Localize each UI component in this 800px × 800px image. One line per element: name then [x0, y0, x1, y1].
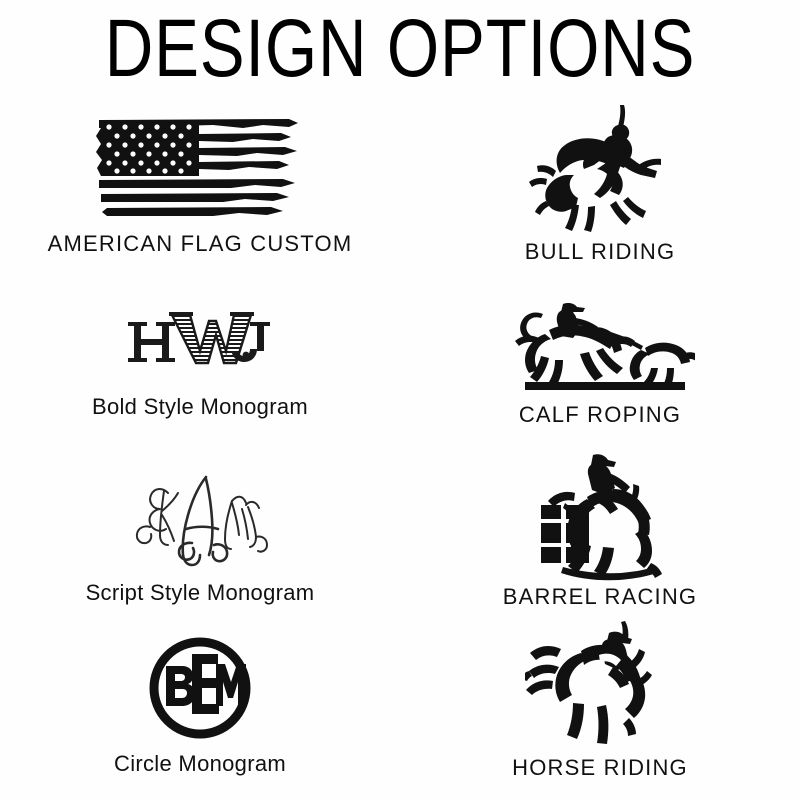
bold-monogram-icon — [120, 286, 280, 390]
design-option-label: Bold Style Monogram — [92, 394, 308, 420]
design-option-label: Circle Monogram — [114, 751, 286, 777]
design-option-script-style-monogram[interactable]: Script Style Monogram — [0, 458, 400, 629]
barrel-racing-icon — [515, 452, 685, 580]
script-monogram-icon — [120, 458, 280, 576]
design-option-label: BULL RIDING — [525, 239, 676, 265]
design-option-label: HORSE RIDING — [512, 755, 688, 781]
design-option-barrel-racing[interactable]: BARREL RACING — [400, 458, 800, 629]
design-option-calf-roping[interactable]: CALF ROPING — [400, 286, 800, 457]
page-title: DESIGN OPTIONS — [72, 8, 728, 90]
design-option-american-flag-custom[interactable]: AMERICAN FLAG CUSTOM — [0, 115, 400, 286]
design-options-page: DESIGN OPTIONS — [0, 0, 800, 800]
circle-monogram-icon — [146, 629, 254, 747]
calf-roping-icon — [505, 286, 695, 398]
design-option-circle-monogram[interactable]: Circle Monogram — [0, 629, 400, 800]
design-option-label: BARREL RACING — [503, 584, 698, 610]
design-option-label: AMERICAN FLAG CUSTOM — [48, 231, 353, 257]
bucking-horse-icon — [525, 623, 675, 751]
design-option-label: CALF ROPING — [519, 402, 681, 428]
design-option-bucking-horse-icon-cell[interactable]: HORSE RIDING — [400, 629, 800, 800]
distressed-american-flag-icon — [93, 115, 308, 227]
bull-riding-icon — [520, 107, 680, 235]
design-option-bold-style-monogram[interactable]: Bold Style Monogram — [0, 286, 400, 457]
design-option-label: Script Style Monogram — [86, 580, 315, 606]
design-option-bull-riding[interactable]: BULL RIDING — [400, 115, 800, 286]
design-options-grid: AMERICAN FLAG CUSTOM — [0, 115, 800, 800]
